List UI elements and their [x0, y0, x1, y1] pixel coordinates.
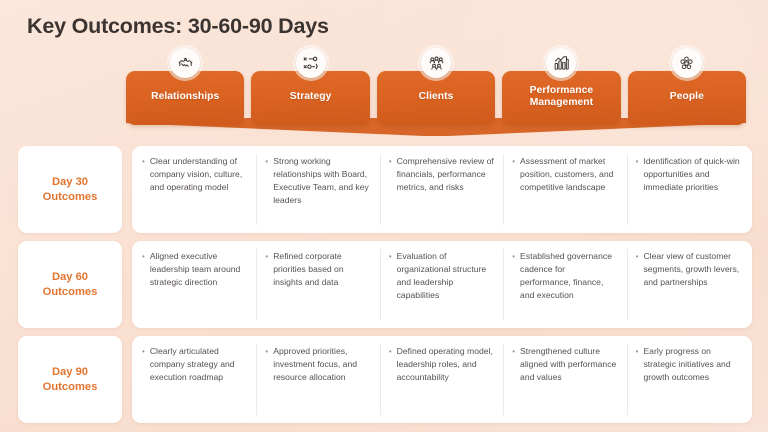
- outcome-cell: • Established governance cadence for per…: [504, 249, 627, 320]
- bullet-glyph: •: [512, 250, 515, 263]
- outcomes-row-day-90: Day 90 Outcomes • Clearly articulated co…: [18, 336, 752, 423]
- outcome-cell: • Strong working relationships with Boar…: [257, 154, 380, 225]
- outcome-text: Identification of quick-win opportunitie…: [643, 155, 741, 194]
- people-group-icon: [421, 48, 451, 78]
- outcome-cell: • Clear understanding of company vision,…: [134, 154, 257, 225]
- bullet-glyph: •: [389, 155, 392, 168]
- outcome-cell: • Clearly articulated company strategy a…: [134, 344, 257, 415]
- performance-chart-icon: [546, 48, 576, 78]
- outcome-text: Evaluation of organizational structure a…: [397, 250, 495, 302]
- outcome-cell: • Identification of quick-win opportunit…: [628, 154, 750, 225]
- outcome-cell: • Defined operating model, leadership ro…: [381, 344, 504, 415]
- outcome-text: Strengthened culture aligned with perfor…: [520, 345, 618, 384]
- row-label-line1: Day 90: [52, 366, 88, 378]
- bullet-glyph: •: [142, 155, 145, 168]
- row-cells-day-90: • Clearly articulated company strategy a…: [132, 336, 752, 423]
- outcome-cell: • Early progress on strategic initiative…: [628, 344, 750, 415]
- pillar-pill-people[interactable]: People: [628, 71, 746, 125]
- outcome-cell: • Evaluation of organizational structure…: [381, 249, 504, 320]
- bullet-glyph: •: [142, 345, 145, 358]
- pillar-pill-relationships[interactable]: Relationships: [126, 71, 244, 125]
- outcome-text: Clear understanding of company vision, c…: [150, 155, 248, 194]
- outcome-cell: • Refined corporate priorities based on …: [257, 249, 380, 320]
- slide-canvas: Key Outcomes: 30-60-90 Days Relationship…: [0, 0, 768, 432]
- row-label-text: Day 30 Outcomes: [43, 175, 98, 203]
- playbook-xo-icon: [296, 48, 326, 78]
- outcome-text: Clearly articulated company strategy and…: [150, 345, 248, 384]
- row-label-line2: Outcomes: [43, 286, 98, 298]
- row-label-card-day-90: Day 90 Outcomes: [18, 336, 122, 423]
- outcomes-row-day-30: Day 30 Outcomes • Clear understanding of…: [18, 146, 752, 233]
- outcome-text: Early progress on strategic initiatives …: [643, 345, 741, 384]
- pillar-label: Relationships: [151, 91, 219, 103]
- bullet-glyph: •: [512, 345, 515, 358]
- outcome-text: Refined corporate priorities based on in…: [273, 250, 371, 289]
- bullet-glyph: •: [389, 345, 392, 358]
- bullet-glyph: •: [142, 250, 145, 263]
- bullet-glyph: •: [636, 345, 639, 358]
- row-cells-day-30: • Clear understanding of company vision,…: [132, 146, 752, 233]
- bullet-glyph: •: [265, 345, 268, 358]
- outcome-cell: • Assessment of market position, custome…: [504, 154, 627, 225]
- row-label-text: Day 60 Outcomes: [43, 270, 98, 298]
- pillar-label: Clients: [419, 91, 454, 103]
- row-label-line2: Outcomes: [43, 381, 98, 393]
- pillar-pill-performance-management[interactable]: Performance Management: [502, 71, 620, 125]
- row-label-line2: Outcomes: [43, 191, 98, 203]
- bullet-glyph: •: [512, 155, 515, 168]
- outcome-cell: • Comprehensive review of financials, pe…: [381, 154, 504, 225]
- outcome-text: Assessment of market position, customers…: [520, 155, 618, 194]
- outcome-text: Defined operating model, leadership role…: [397, 345, 495, 384]
- outcome-cell: • Approved priorities, investment focus,…: [257, 344, 380, 415]
- outcome-text: Aligned executive leadership team around…: [150, 250, 248, 289]
- bullet-glyph: •: [389, 250, 392, 263]
- pillar-label: People: [670, 91, 704, 103]
- page-title: Key Outcomes: 30-60-90 Days: [27, 14, 329, 39]
- people-cluster-icon: [672, 48, 702, 78]
- handshake-icon: [170, 48, 200, 78]
- bullet-glyph: •: [636, 250, 639, 263]
- pillar-pill-row: Relationships Strategy: [126, 71, 746, 125]
- row-cells-day-60: • Aligned executive leadership team arou…: [132, 241, 752, 328]
- bullet-glyph: •: [265, 250, 268, 263]
- outcomes-grid: Day 30 Outcomes • Clear understanding of…: [18, 146, 752, 423]
- outcomes-row-day-60: Day 60 Outcomes • Aligned executive lead…: [18, 241, 752, 328]
- row-label-text: Day 90 Outcomes: [43, 365, 98, 393]
- pillar-pill-strategy[interactable]: Strategy: [251, 71, 369, 125]
- outcome-text: Approved priorities, investment focus, a…: [273, 345, 371, 384]
- pillar-label: Performance Management: [508, 85, 614, 109]
- outcome-text: Strong working relationships with Board,…: [273, 155, 371, 207]
- pillar-label: Strategy: [290, 91, 332, 103]
- bullet-glyph: •: [265, 155, 268, 168]
- outcome-cell: • Aligned executive leadership team arou…: [134, 249, 257, 320]
- outcome-text: Comprehensive review of financials, perf…: [397, 155, 495, 194]
- outcome-cell: • Clear view of customer segments, growt…: [628, 249, 750, 320]
- row-label-card-day-30: Day 30 Outcomes: [18, 146, 122, 233]
- row-label-line1: Day 60: [52, 271, 88, 283]
- pillar-pill-clients[interactable]: Clients: [377, 71, 495, 125]
- outcome-text: Clear view of customer segments, growth …: [643, 250, 741, 289]
- row-label-line1: Day 30: [52, 176, 88, 188]
- outcome-cell: • Strengthened culture aligned with perf…: [504, 344, 627, 415]
- bullet-glyph: •: [636, 155, 639, 168]
- row-label-card-day-60: Day 60 Outcomes: [18, 241, 122, 328]
- outcome-text: Established governance cadence for perfo…: [520, 250, 618, 302]
